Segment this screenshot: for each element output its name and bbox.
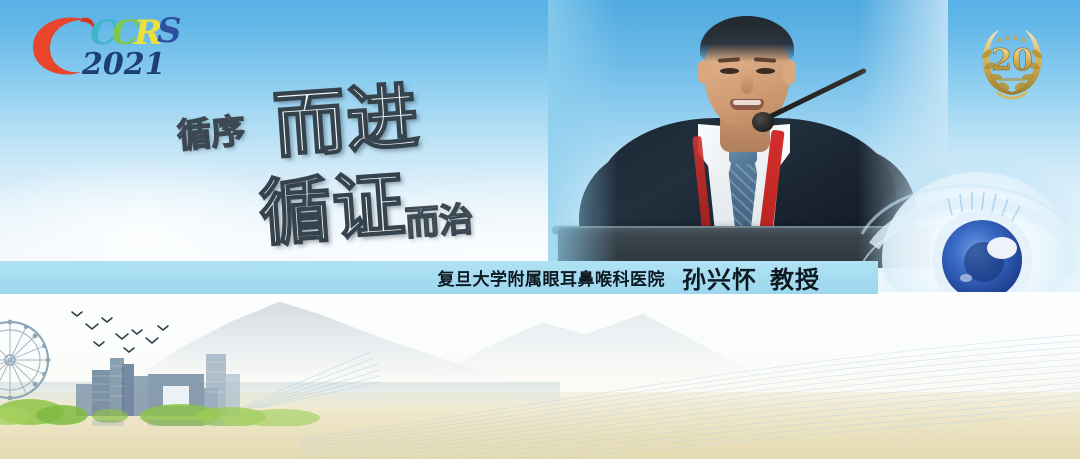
eye-highlight [987,237,1017,259]
badge-bottom-text [999,78,1025,81]
conference-banner-image: C C R S 2021 [0,0,1080,459]
calligraphy-line2-small: 而治 [403,192,474,246]
speaker-title: 教授 [770,260,820,295]
logo-year: 2021 [81,47,166,82]
calligraphy-line1-small: 循序 [175,103,247,158]
badge-number: 20 [991,43,1033,78]
speaker-eye-right [756,68,775,74]
photo-blend-left [548,0,618,268]
speaker-name: 孙兴怀 [682,260,757,295]
logo-letter-s: S [157,11,182,51]
logo-initial-c [33,18,86,75]
badge-top-marks [997,36,1025,42]
calligraphy-line2-big: 循证 [256,145,409,260]
speaker-ear-left [698,60,711,84]
speaker-teeth [733,100,761,105]
speaker-eye-left [720,68,739,74]
20th-anniversary-badge: 20 [975,20,1049,106]
anniversary-badge-svg: 20 [975,20,1049,106]
flowing-wave-lines [300,300,1080,459]
speaker-name-bar-text: 复旦大学附属眼耳鼻喉科医院 孙兴怀 教授 [0,261,878,294]
eye-highlight-small [960,274,972,282]
speaker-nose [741,74,753,94]
speaker-organization: 复旦大学附属眼耳鼻喉科医院 [438,265,666,290]
speaker-ear-right [783,60,796,84]
ferris-wheel [0,320,50,401]
calligraphy-slogan: 循序 而进 循证 而治 [175,62,535,252]
microphone-head [752,112,774,132]
birds-flock [58,306,188,368]
